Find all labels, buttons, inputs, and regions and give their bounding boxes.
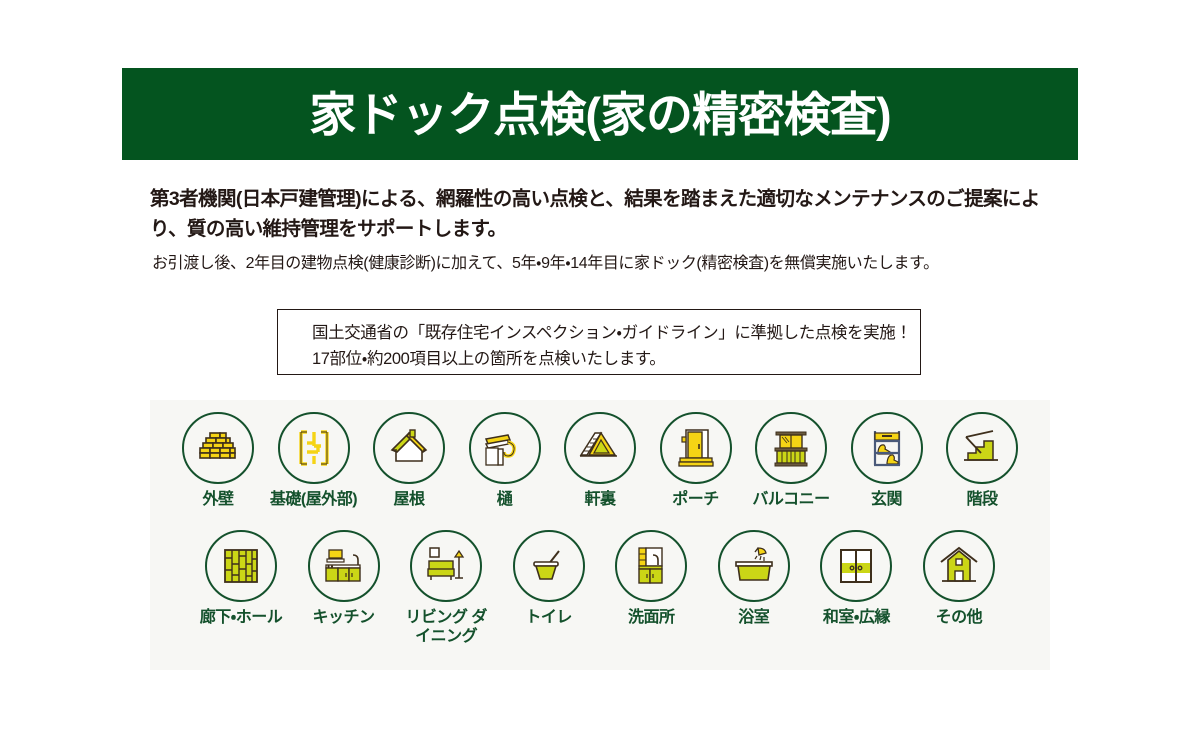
inspection-area-label: 軒裏 xyxy=(584,491,615,510)
stairs-icon xyxy=(946,412,1018,484)
inspection-area-roof[interactable]: 屋根 xyxy=(363,412,455,510)
inspection-area-label: ポーチ xyxy=(672,491,719,510)
inspection-area-toilet[interactable]: トイレ xyxy=(503,530,595,628)
inspection-areas-row-2: 廊下・ホール キッチン xyxy=(150,530,1050,647)
inspection-area-label: その他 xyxy=(936,609,983,628)
eaves-soffit-icon xyxy=(564,412,636,484)
page-title: 家ドック点検(家の精密検査) xyxy=(309,91,890,138)
inspection-area-label: 樋 xyxy=(497,491,513,510)
inspection-area-label: 洗面所 xyxy=(628,609,675,628)
inspection-areas-panel: 外壁 xyxy=(150,400,1050,670)
inspection-area-gutter[interactable]: 樋 xyxy=(459,412,551,510)
toilet-icon xyxy=(513,530,585,602)
sliding-door-icon xyxy=(820,530,892,602)
inspection-area-porch[interactable]: ポーチ xyxy=(650,412,742,510)
inspection-area-label: トイレ xyxy=(525,609,572,628)
inspection-area-label: 玄関 xyxy=(871,491,902,510)
inspection-area-label: 外壁 xyxy=(202,491,233,510)
roof-icon xyxy=(373,412,445,484)
inspection-area-label: 階段 xyxy=(966,491,997,510)
callout-box: 国土交通省の「既存住宅インスペクション・ガイドライン」に準拠した点検を実施！ 1… xyxy=(277,309,921,375)
inspection-area-japanese-room[interactable]: 和室・広縁 xyxy=(810,530,902,628)
inspection-area-stairs[interactable]: 階段 xyxy=(936,412,1028,510)
inspection-area-label: 廊下・ホール xyxy=(200,609,282,628)
inspection-area-label: 基礎(屋外部) xyxy=(270,491,357,510)
title-banner: 家ドック点検(家の精密検査) xyxy=(122,68,1078,160)
brick-wall-icon xyxy=(182,412,254,484)
callout-line-1: 国土交通省の「既存住宅インスペクション・ガイドライン」に準拠した点検を実施！ xyxy=(312,321,920,347)
inspection-area-living-dining[interactable]: リビング ダイニング xyxy=(400,530,492,647)
kitchen-icon xyxy=(308,530,380,602)
sub-note: お引渡し後、2年目の建物点検(健康診断)に加えて、5年・9年・14年目に家ドック… xyxy=(152,252,1032,276)
gutter-icon xyxy=(469,412,541,484)
inspection-area-washroom[interactable]: 洗面所 xyxy=(605,530,697,628)
bathtub-shower-icon xyxy=(718,530,790,602)
inspection-area-label: リビング ダイニング xyxy=(400,609,492,647)
inspection-areas-row-1: 外壁 xyxy=(150,412,1050,510)
inspection-area-hallway[interactable]: 廊下・ホール xyxy=(195,530,287,628)
inspection-area-label: 和室・広縁 xyxy=(823,609,890,628)
house-icon xyxy=(923,530,995,602)
inspection-area-label: バルコニー xyxy=(752,491,829,510)
inspection-area-entrance[interactable]: 玄関 xyxy=(841,412,933,510)
inspection-area-foundation[interactable]: 基礎(屋外部) xyxy=(268,412,360,510)
flooring-icon xyxy=(205,530,277,602)
inspection-area-label: 屋根 xyxy=(393,491,424,510)
living-sofa-icon xyxy=(410,530,482,602)
inspection-area-label: キッチン xyxy=(313,609,375,628)
callout-line-2: 17部位・約200項目以上の箇所を点検いたします。 xyxy=(312,347,920,373)
porch-door-icon xyxy=(660,412,732,484)
inspection-area-exterior-wall[interactable]: 外壁 xyxy=(172,412,264,510)
washbasin-icon xyxy=(615,530,687,602)
balcony-icon xyxy=(755,412,827,484)
entrance-shoe-rack-icon xyxy=(851,412,923,484)
inspection-area-kitchen[interactable]: キッチン xyxy=(298,530,390,628)
inspection-area-label: 浴室 xyxy=(738,609,769,628)
inspection-area-other[interactable]: その他 xyxy=(913,530,1005,628)
inspection-area-bathroom[interactable]: 浴室 xyxy=(708,530,800,628)
foundation-plan-icon xyxy=(278,412,350,484)
inspection-area-eaves[interactable]: 軒裏 xyxy=(554,412,646,510)
lead-paragraph: 第3者機関(日本戸建管理)による、網羅性の高い点検と、結果を踏まえた適切なメンテ… xyxy=(150,184,1050,244)
inspection-area-balcony[interactable]: バルコニー xyxy=(745,412,837,510)
